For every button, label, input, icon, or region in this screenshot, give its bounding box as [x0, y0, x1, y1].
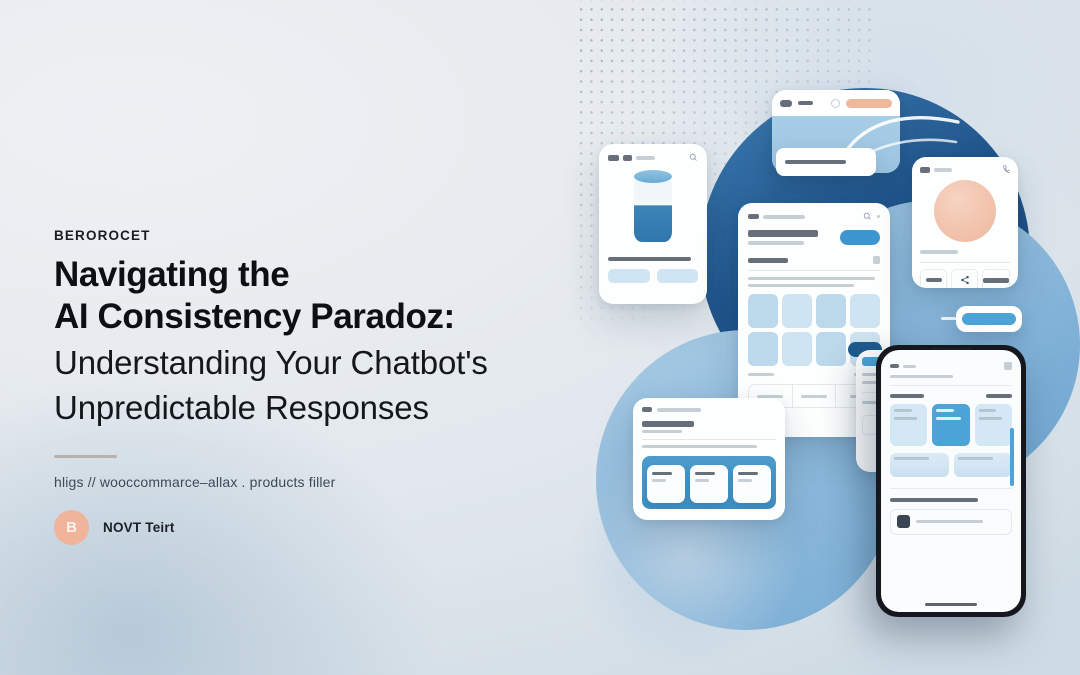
upload-icon [897, 515, 910, 528]
phone-profile-icon[interactable] [1004, 362, 1012, 370]
speaker-card-header [608, 153, 698, 162]
chat-input-placeholder [785, 160, 846, 164]
speaker-card[interactable] [599, 144, 707, 304]
phone-footer-label [890, 498, 978, 502]
status-dot-icon [831, 99, 840, 108]
dashboard-tile[interactable] [816, 294, 846, 328]
dashboard-logo [748, 214, 759, 219]
phone-button-row [890, 453, 1012, 477]
pricing-plan-tiles [647, 465, 771, 503]
dashboard-section-label [748, 258, 788, 263]
phone-option-card[interactable] [975, 404, 1012, 446]
phone-screen[interactable] [881, 350, 1021, 612]
profile-action-left[interactable] [920, 269, 947, 288]
phone-mockup[interactable] [876, 345, 1026, 617]
dashboard-tile[interactable] [816, 332, 846, 366]
dashboard-nav [763, 215, 805, 219]
dashboard-footer-tab[interactable] [793, 385, 837, 407]
profile-action-row [920, 269, 1010, 288]
pricing-nav [657, 408, 701, 412]
pricing-plan-tile[interactable] [647, 465, 685, 503]
speaker-card-button-secondary[interactable] [657, 269, 699, 283]
chat-card-header [772, 90, 900, 116]
dashboard-cta-button[interactable] [840, 230, 880, 245]
chat-icon[interactable] [780, 100, 792, 107]
chat-message-input[interactable] [776, 148, 876, 176]
menu-icon[interactable] [920, 167, 930, 173]
pricing-card[interactable] [633, 398, 785, 520]
headline-line-2: AI Consistency Paradoz: [54, 296, 524, 338]
toggle-pill[interactable] [956, 306, 1022, 332]
pricing-logo [642, 407, 652, 412]
phone-app-nav [903, 365, 916, 368]
phone-upload-box[interactable] [890, 509, 1012, 535]
dashboard-text-row [748, 284, 854, 287]
more-options-icon[interactable] [877, 215, 880, 218]
phone-upload-label [916, 520, 983, 523]
subheadline-line-1: Understanding Your Chatbot's [54, 342, 524, 384]
phone-divider [890, 488, 1012, 489]
pricing-plan-tile[interactable] [733, 465, 771, 503]
banner-text-column: BEROROCET Navigating the AI Consistency … [54, 228, 524, 545]
avatar: B [54, 510, 89, 545]
source-url-text[interactable]: hligs // wooccommarce–allax . products f… [54, 474, 524, 490]
phone-app-logo [890, 364, 899, 368]
dashboard-text-row [748, 277, 875, 280]
menu-icon[interactable] [608, 155, 619, 161]
phone-home-indicator [925, 603, 977, 606]
search-icon[interactable] [689, 153, 698, 162]
pricing-subheading [642, 430, 682, 433]
phone-title-row [890, 375, 953, 378]
speaker-3d-graphic [608, 168, 698, 252]
pricing-plan-strip [642, 456, 776, 509]
profile-card[interactable] [912, 157, 1018, 288]
headline-line-1: Navigating the [54, 254, 524, 296]
dashboard-tile[interactable] [748, 332, 778, 366]
pricing-heading [642, 421, 694, 427]
dashboard-subheading [748, 241, 804, 245]
phone-option-card[interactable] [890, 404, 927, 446]
chat-title [798, 101, 813, 105]
phone-icon[interactable] [1002, 165, 1010, 174]
dashboard-heading [748, 230, 818, 237]
logo-mark [623, 155, 632, 161]
phone-scrollbar[interactable] [1010, 428, 1014, 486]
phone-option-card-selected[interactable] [932, 404, 969, 446]
profile-avatar-circle [934, 180, 996, 242]
phone-section-label [890, 394, 924, 398]
phone-row-button[interactable] [890, 453, 949, 477]
toggle-pill-fill [962, 313, 1016, 325]
dashboard-tile[interactable] [850, 294, 880, 328]
byline: B NOVT Teirt [54, 510, 524, 545]
phone-section-label [986, 394, 1012, 398]
phone-divider [890, 385, 1012, 386]
phone-option-cards [890, 404, 1012, 446]
speaker-card-buttons [608, 269, 698, 283]
phone-row-button[interactable] [954, 453, 1013, 477]
profile-action-right[interactable] [982, 269, 1010, 288]
profile-caption [920, 250, 958, 254]
filter-icon[interactable] [873, 256, 880, 264]
pricing-plan-tile[interactable] [690, 465, 728, 503]
nav-label [636, 156, 655, 160]
dashboard-tile[interactable] [748, 294, 778, 328]
dashboard-topbar [748, 212, 880, 221]
dashboard-tile[interactable] [782, 294, 812, 328]
speaker-card-button-primary[interactable] [608, 269, 650, 283]
chat-action-pill[interactable] [846, 99, 892, 108]
dashboard-footnote [748, 373, 774, 376]
profile-divider [920, 262, 1010, 263]
share-icon[interactable] [951, 269, 978, 288]
subheadline-line-2: Unpredictable Responses [54, 387, 524, 429]
brand-eyebrow: BEROROCET [54, 228, 524, 243]
profile-card-label [934, 168, 952, 172]
divider-rule [54, 455, 117, 458]
pricing-text-row [642, 445, 757, 448]
search-icon[interactable] [863, 212, 872, 221]
banner-canvas: BEROROCET Navigating the AI Consistency … [0, 0, 1080, 675]
author-name: NOVT Teirt [103, 520, 175, 535]
speaker-caption [608, 257, 691, 261]
dashboard-tile[interactable] [782, 332, 812, 366]
